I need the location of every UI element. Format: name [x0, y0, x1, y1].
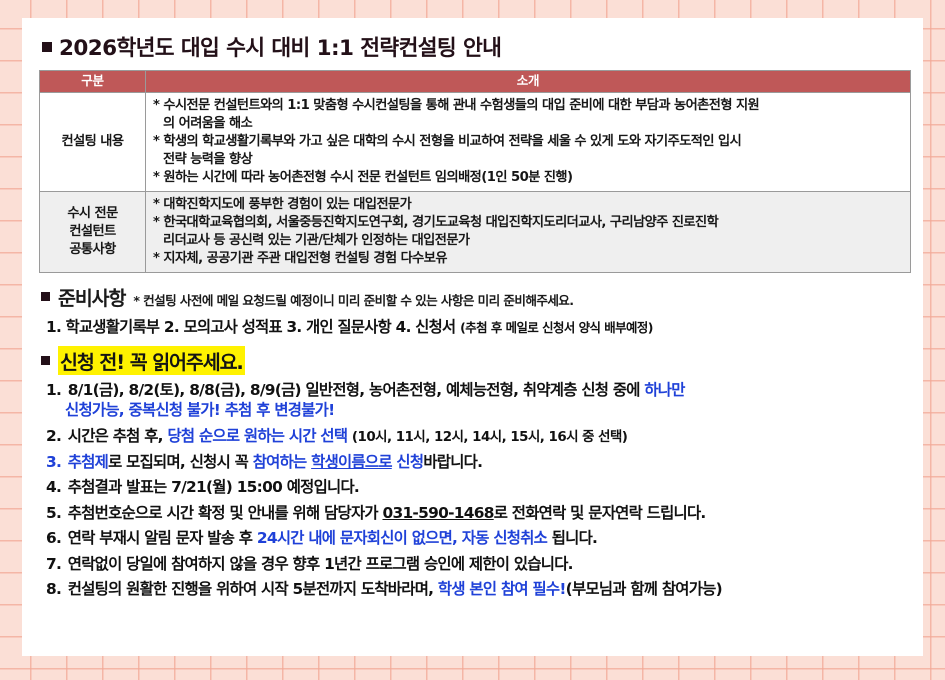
preparation-items: 1. 학교생활기록부 2. 모의고사 성적표 3. 개인 질문사항 4. 신청서… — [46, 315, 907, 337]
table-header-row: 구분 소개 — [40, 71, 911, 93]
table-row: 수시 전문 컨설턴트 공통사항 * 대학진학지도에 풍부한 경험이 있는 대입전… — [40, 192, 911, 273]
notice-item-number: 3. — [46, 453, 66, 471]
table-cell-line: * 학생의 학교생활기록부와 가고 싶은 대학의 수시 전형을 비교하여 전략을… — [153, 133, 904, 169]
notice-item-text: 추첨결과 발표는 7/21(월) 15:00 예정입니다. — [68, 478, 359, 496]
notice-item: 8. 컨설팅의 원활한 진행을 위하여 시작 5분전까지 도착바라며, 학생 본… — [46, 579, 907, 599]
notice-item-text: 신청 — [392, 453, 424, 471]
table-row-label: 컨설팅 내용 — [40, 93, 146, 192]
notice-item-text: 031-590-1468 — [382, 504, 493, 522]
notice-item-number: 6. — [46, 529, 66, 547]
preparation-heading: 준비사항 * 컨설팅 사전에 메일 요청드릴 예정이니 미리 준비할 수 있는 … — [41, 282, 907, 311]
notice-item-text: 됩니다. — [552, 529, 597, 547]
notice-item: 5. 추첨번호순으로 시간 확정 및 안내를 위해 담당자가 031-590-1… — [46, 503, 907, 523]
notice-page: 2026학년도 대입 수시 대비 1:1 전략컨설팅 안내 구분 소개 컨설팅 … — [22, 18, 923, 656]
table-header-category: 구분 — [40, 71, 146, 93]
notice-item-text: 연락없이 당일에 참여하지 않을 경우 향후 1년간 프로그램 승인에 제한이 … — [68, 555, 573, 573]
notice-item-text: 당첨 순으로 원하는 시간 선택 — [167, 427, 351, 445]
notice-item-text: 연락 부재시 알림 문자 발송 후 — [68, 529, 257, 547]
table-row-body: * 수시전문 컨설턴트와의 1:1 맞춤형 수시컨설팅을 통해 관내 수험생들의… — [146, 93, 911, 192]
notice-item-text: 컨설팅의 원활한 진행을 위하여 시작 5분전까지 도착바라며, — [68, 580, 438, 598]
page-title: 2026학년도 대입 수시 대비 1:1 전략컨설팅 안내 — [42, 31, 907, 62]
preparation-title: 준비사항 — [58, 282, 125, 311]
notice-item-text: 24시간 내에 문자회신이 없으면, 자동 신청취소 — [257, 529, 552, 547]
notice-item-text: 시간은 추첨 후, — [68, 427, 168, 445]
table-header-description: 소개 — [146, 71, 911, 93]
table-row: 컨설팅 내용 * 수시전문 컨설턴트와의 1:1 맞춤형 수시컨설팅을 통해 관… — [40, 93, 911, 192]
notice-item-number: 1. — [46, 381, 66, 399]
notice-item-text: 학생 본인 참여 필수! — [438, 580, 566, 598]
notice-item: 1. 8/1(금), 8/2(토), 8/8(금), 8/9(금) 일반전형, … — [46, 380, 907, 421]
notice-item-text: 로 전화연락 및 문자연락 드립니다. — [494, 504, 706, 522]
preparation-items-paren: (추첨 후 메일로 신청서 양식 배부예정) — [460, 320, 653, 335]
notice-item-text: 바랍니다. — [423, 453, 482, 471]
table-cell-line: * 지자체, 공공기관 주관 대입전형 컨설팅 경험 다수보유 — [153, 250, 904, 268]
table-cell-line: * 수시전문 컨설턴트와의 1:1 맞춤형 수시컨설팅을 통해 관내 수험생들의… — [153, 97, 904, 133]
notice-item: 4. 추첨결과 발표는 7/21(월) 15:00 예정입니다. — [46, 477, 907, 497]
notice-item-text: 로 모집되며, 신청시 꼭 — [108, 453, 253, 471]
table-cell-line: * 원하는 시간에 따라 농어촌전형 수시 전문 컨설턴트 임의배정(1인 50… — [153, 169, 904, 187]
notice-item-number: 5. — [46, 504, 66, 522]
notice-item: 2. 시간은 추첨 후, 당첨 순으로 원하는 시간 선택 (10시, 11시,… — [46, 426, 907, 447]
notice-item: 7. 연락없이 당일에 참여하지 않을 경우 향후 1년간 프로그램 승인에 제… — [46, 554, 907, 574]
bullet-square-icon — [42, 42, 52, 52]
notice-item-number: 4. — [46, 478, 66, 496]
notice-item-text: (10시, 11시, 12시, 14시, 15시, 16시 중 선택) — [352, 430, 628, 445]
preparation-note: * 컨설팅 사전에 메일 요청드릴 예정이니 미리 준비할 수 있는 사항은 미… — [133, 290, 573, 309]
notice-item-number: 7. — [46, 555, 66, 573]
table-row-label: 수시 전문 컨설턴트 공통사항 — [40, 192, 146, 273]
bullet-square-icon — [41, 292, 50, 301]
notice-item-text: 추첨제 — [68, 453, 108, 471]
notice-item-text: 8/1(금), 8/2(토), 8/8(금), 8/9(금) 일반전형, 농어촌… — [68, 381, 645, 399]
program-intro-table: 구분 소개 컨설팅 내용 * 수시전문 컨설턴트와의 1:1 맞춤형 수시컨설팅… — [39, 70, 911, 273]
notice-item-text: 참여하는 — [253, 453, 311, 471]
preparation-items-text: 1. 학교생활기록부 2. 모의고사 성적표 3. 개인 질문사항 4. 신청서 — [46, 318, 455, 336]
notice-item-text: 신청가능, 중복신청 불가! 추첨 후 변경불가! — [65, 401, 334, 419]
notice-item-text: 학생이름으로 — [311, 453, 392, 471]
table-cell-line: * 대학진학지도에 풍부한 경험이 있는 대입전문가 — [153, 196, 904, 214]
notice-item-text: (부모님과 함께 참여가능) — [566, 580, 722, 598]
notice-item: 6. 연락 부재시 알림 문자 발송 후 24시간 내에 문자회신이 없으면, … — [46, 528, 907, 548]
notice-item-number: 8. — [46, 580, 66, 598]
page-title-text: 2026학년도 대입 수시 대비 1:1 전략컨설팅 안내 — [59, 31, 501, 62]
notice-item-number: 2. — [46, 427, 66, 445]
table-cell-line: * 한국대학교육협의회, 서울중등진학지도연구회, 경기도교육청 대입진학지도리… — [153, 214, 904, 250]
notice-heading: 신청 전! 꼭 읽어주세요. — [41, 346, 907, 375]
notice-item: 3. 추첨제로 모집되며, 신청시 꼭 참여하는 학생이름으로 신청바랍니다. — [46, 452, 907, 472]
notice-item-text: 추첨번호순으로 시간 확정 및 안내를 위해 담당자가 — [68, 504, 383, 522]
table-row-body: * 대학진학지도에 풍부한 경험이 있는 대입전문가 * 한국대학교육협의회, … — [146, 192, 911, 273]
notice-item-text: 하나만 — [644, 381, 684, 399]
notice-list: 1. 8/1(금), 8/2(토), 8/8(금), 8/9(금) 일반전형, … — [38, 380, 907, 600]
notice-title: 신청 전! 꼭 읽어주세요. — [58, 346, 245, 375]
bullet-square-icon — [41, 356, 50, 365]
